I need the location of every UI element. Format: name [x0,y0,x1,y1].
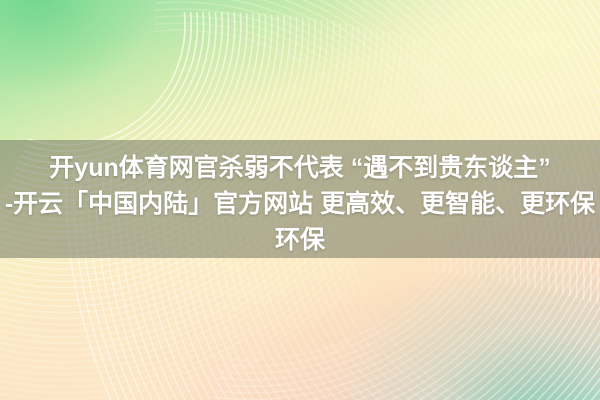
headline-text: 开yun体育网官杀弱不代表 “遇不到贵东谈主” -开云「中国内陆」官方网站 更高… [0,150,600,258]
headline-line-1: 开yun体育网官杀弱不代表 “遇不到贵东谈主” [0,150,600,186]
headline-line-3: 环保 [0,222,600,258]
headline-line-2: -开云「中国内陆」官方网站 更高效、更智能、更环保 [0,186,600,222]
promo-banner: 开yun体育网官杀弱不代表 “遇不到贵东谈主” -开云「中国内陆」官方网站 更高… [0,0,600,400]
